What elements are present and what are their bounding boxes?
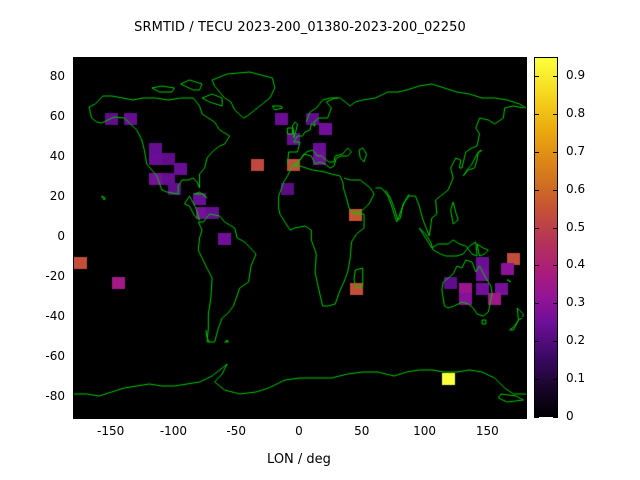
y-tick-mark (520, 197, 525, 198)
colorbar-tick-mark (553, 228, 558, 229)
y-tick-label: 60 (31, 109, 65, 123)
colorbar-tick-mark (553, 417, 558, 418)
colorbar-tick-label: 0.7 (566, 144, 585, 158)
y-tick-mark (520, 277, 525, 278)
colorbar-tick-mark (553, 303, 558, 304)
y-tick-label: 80 (31, 69, 65, 83)
colorbar-tick-mark (534, 152, 539, 153)
colorbar-tick-mark (534, 76, 539, 77)
y-tick-label: -80 (31, 389, 65, 403)
colorbar-tick-mark (534, 228, 539, 229)
colorbar-tick-mark (553, 341, 558, 342)
colorbar-tick-label: 0.8 (566, 106, 585, 120)
x-tick-mark (487, 412, 488, 417)
y-tick-label: -40 (31, 309, 65, 323)
x-tick-label: 150 (457, 424, 517, 438)
colorbar-tick-mark (553, 114, 558, 115)
y-tick-mark (73, 317, 78, 318)
y-tick-mark (73, 117, 78, 118)
y-tick-label: 20 (31, 189, 65, 203)
x-tick-mark (299, 57, 300, 62)
colorbar-tick-label: 0 (566, 409, 574, 423)
y-tick-mark (520, 237, 525, 238)
x-tick-mark (362, 57, 363, 62)
colorbar-tick-mark (553, 265, 558, 266)
x-tick-mark (236, 412, 237, 417)
x-tick-mark (425, 57, 426, 62)
y-tick-mark (73, 77, 78, 78)
y-tick-mark (73, 277, 78, 278)
colorbar-tick-mark (553, 76, 558, 77)
y-tick-label: -20 (31, 269, 65, 283)
y-tick-mark (520, 77, 525, 78)
x-tick-label: 100 (395, 424, 455, 438)
colorbar-tick-mark (534, 114, 539, 115)
colorbar-tick-label: 0.4 (566, 257, 585, 271)
x-tick-label: -150 (81, 424, 141, 438)
x-tick-mark (173, 57, 174, 62)
x-tick-label: -50 (206, 424, 266, 438)
x-tick-label: -100 (143, 424, 203, 438)
y-tick-mark (520, 117, 525, 118)
colorbar-tick-label: 0.9 (566, 68, 585, 82)
x-tick-mark (487, 57, 488, 62)
plot-root: SRMTID / TECU 2023-200_01380-2023-200_02… (0, 0, 640, 480)
map-plot-area[interactable] (73, 57, 527, 419)
page-title: SRMTID / TECU 2023-200_01380-2023-200_02… (0, 20, 600, 35)
y-tick-mark (520, 157, 525, 158)
x-tick-mark (173, 412, 174, 417)
x-tick-mark (299, 412, 300, 417)
colorbar-tick-mark (534, 265, 539, 266)
colorbar-tick-label: 0.3 (566, 295, 585, 309)
x-tick-mark (111, 412, 112, 417)
x-tick-mark (111, 57, 112, 62)
y-tick-mark (520, 357, 525, 358)
y-tick-mark (73, 197, 78, 198)
y-tick-label: -60 (31, 349, 65, 363)
x-axis-label: LON / deg (0, 452, 598, 467)
colorbar-gradient (534, 57, 558, 417)
colorbar-tick-mark (534, 341, 539, 342)
colorbar-tick-label: 0.5 (566, 220, 585, 234)
y-tick-label: 0 (31, 229, 65, 243)
colorbar-tick-mark (553, 190, 558, 191)
y-tick-mark (73, 237, 78, 238)
colorbar-tick-label: 0.6 (566, 182, 585, 196)
x-tick-label: 0 (269, 424, 329, 438)
y-tick-label: 40 (31, 149, 65, 163)
colorbar-tick-label: 0.2 (566, 333, 585, 347)
x-tick-label: 50 (332, 424, 392, 438)
y-tick-mark (73, 397, 78, 398)
x-tick-mark (236, 57, 237, 62)
x-tick-mark (362, 412, 363, 417)
colorbar-tick-mark (553, 152, 558, 153)
y-tick-mark (73, 157, 78, 158)
x-tick-mark (425, 412, 426, 417)
colorbar-tick-label: 0.1 (566, 371, 585, 385)
y-tick-mark (520, 397, 525, 398)
colorbar[interactable] (534, 57, 558, 417)
y-tick-mark (520, 317, 525, 318)
colorbar-tick-mark (534, 379, 539, 380)
colorbar-tick-mark (534, 417, 539, 418)
colorbar-tick-mark (553, 379, 558, 380)
colorbar-tick-mark (534, 190, 539, 191)
heatmap-canvas (74, 58, 526, 418)
colorbar-tick-mark (534, 303, 539, 304)
y-tick-mark (73, 357, 78, 358)
